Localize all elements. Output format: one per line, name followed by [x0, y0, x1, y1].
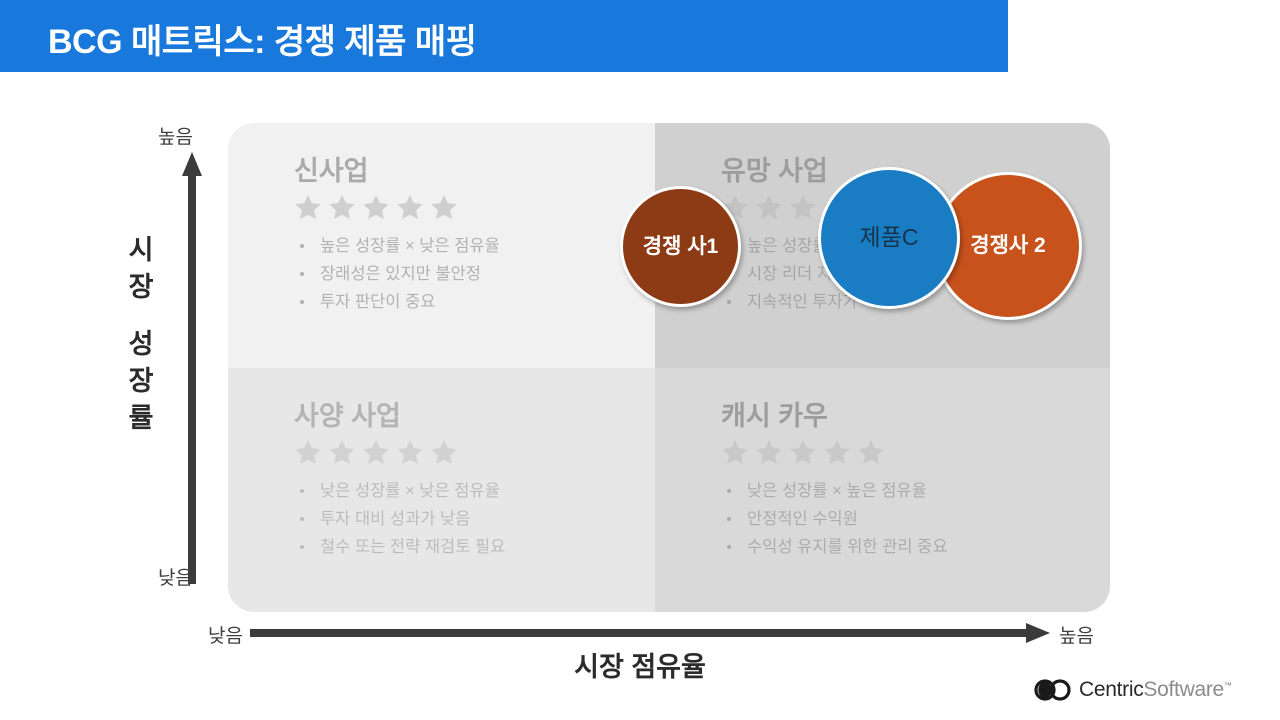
star-icon: [396, 193, 424, 221]
bullet-item: 철수 또는 전략 재검토 필요: [294, 533, 625, 561]
bullet-item: 투자 대비 성과가 낮음: [294, 505, 625, 533]
quadrant-heading: 캐시 카우: [721, 394, 1080, 433]
star-rating: [294, 192, 625, 222]
logo-brand-bold: Centric: [1079, 678, 1143, 701]
bullet-item: 높은 성장률 × 낮은 점유율: [294, 232, 625, 260]
y-axis-title: 시 장 성 장 률: [118, 232, 164, 437]
bubble-competitor-1[interactable]: 경쟁 사1: [620, 186, 741, 307]
bullet-item: 장래성은 있지만 불안정: [294, 260, 625, 288]
centric-software-logo: CentricSoftware™: [1034, 678, 1232, 702]
quadrant-dogs: 사양 사업 낮은 성장률 × 낮은 점유율 투자 대비 성과가 낮음 철수 또는…: [228, 368, 655, 612]
x-axis-low-label: 낮음: [208, 621, 243, 648]
slide-canvas: BCG 매트릭스: 경쟁 제품 매핑 신사업 높은 성장률 × 낮은 점유율 장…: [0, 0, 1280, 720]
quadrant-bullet-list: 낮은 성장률 × 낮은 점유율 투자 대비 성과가 낮음 철수 또는 전략 재검…: [294, 477, 625, 561]
bullet-item: 낮은 성장률 × 높은 점유율: [721, 477, 1080, 505]
quadrant-heading: 신사업: [294, 149, 625, 188]
star-icon: [328, 193, 356, 221]
star-icon: [721, 438, 749, 466]
x-axis-arrow-icon: [250, 622, 1050, 644]
y-axis-title-char: 성: [129, 329, 154, 359]
y-axis-low-label: 낮음: [158, 563, 193, 590]
bullet-item: 투자 판단이 중요: [294, 288, 625, 316]
star-icon: [857, 438, 885, 466]
star-rating: [294, 437, 625, 467]
trademark-symbol: ™: [1224, 681, 1232, 690]
y-axis-title-char: 장: [129, 272, 154, 302]
quadrant-stars: 신사업 높은 성장률 × 낮은 점유율 장래성은 있지만 불안정 투자 판단이 …: [228, 123, 655, 368]
star-icon: [362, 438, 390, 466]
logo-wordmark: CentricSoftware™: [1079, 678, 1232, 702]
x-axis-high-label: 높음: [1059, 621, 1094, 648]
star-icon: [789, 193, 817, 221]
y-axis-title-char: 률: [129, 403, 154, 433]
star-icon: [430, 193, 458, 221]
star-icon: [755, 193, 783, 221]
star-icon: [362, 193, 390, 221]
star-icon: [294, 193, 322, 221]
page-title: BCG 매트릭스: 경쟁 제품 매핑: [48, 14, 476, 63]
quadrant-bullet-list: 높은 성장률 × 낮은 점유율 장래성은 있지만 불안정 투자 판단이 중요: [294, 232, 625, 316]
bullet-item: 수익성 유지를 위한 관리 중요: [721, 533, 1080, 561]
quadrant-heading: 사양 사업: [294, 394, 625, 433]
star-icon: [328, 438, 356, 466]
quadrant-cash-cows: 캐시 카우 낮은 성장률 × 높은 점유율 안정적인 수익원 수익성 유지를 위…: [655, 368, 1110, 612]
star-icon: [294, 438, 322, 466]
y-axis-title-char: 장: [129, 366, 154, 396]
y-axis-title-char: 시: [129, 235, 154, 265]
star-icon: [755, 438, 783, 466]
logo-brand-light: Software: [1143, 678, 1223, 701]
star-icon: [789, 438, 817, 466]
star-icon: [823, 438, 851, 466]
y-axis-high-label: 높음: [158, 122, 193, 149]
star-icon: [396, 438, 424, 466]
star-rating: [721, 437, 1080, 467]
bullet-item: 안정적인 수익원: [721, 505, 1080, 533]
y-axis-title-spacer: [118, 306, 164, 326]
infinity-logo-icon: [1034, 679, 1072, 701]
bubble-product-c[interactable]: 제품C: [818, 167, 960, 309]
y-axis-arrow-icon: [181, 152, 203, 584]
quadrant-bullet-list: 낮은 성장률 × 높은 점유율 안정적인 수익원 수익성 유지를 위한 관리 중…: [721, 477, 1080, 561]
bullet-item: 낮은 성장률 × 낮은 점유율: [294, 477, 625, 505]
star-icon: [430, 438, 458, 466]
